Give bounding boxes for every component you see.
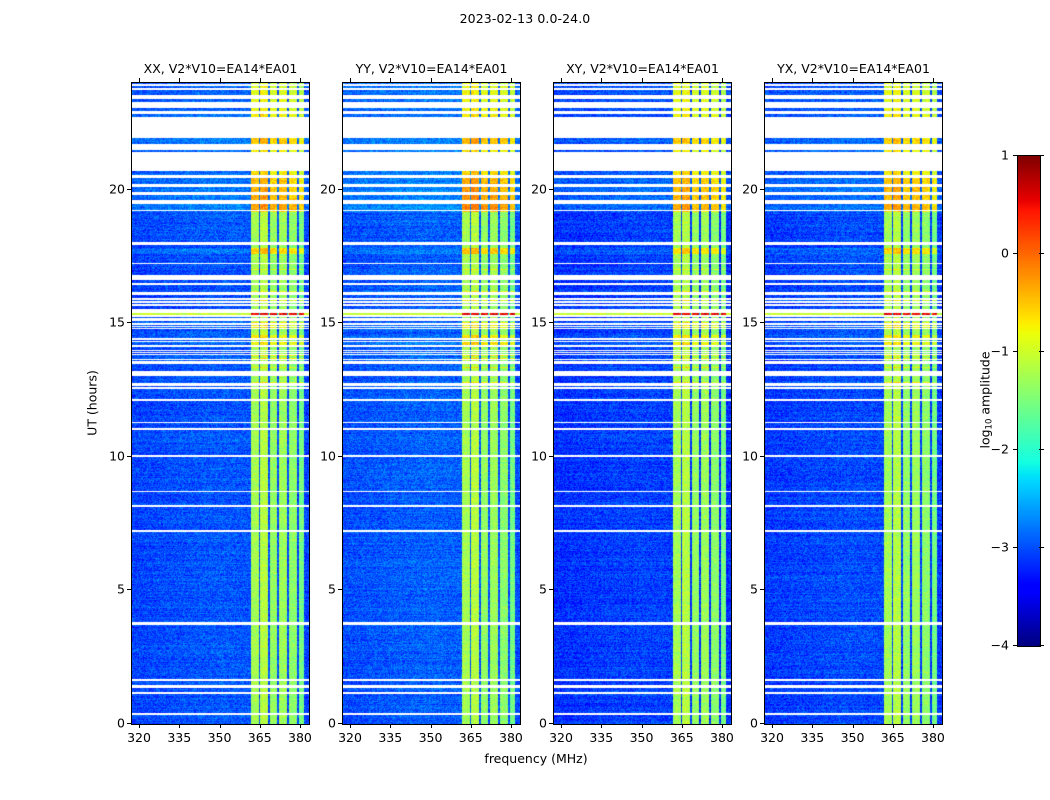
- y-tick-label: 20: [99, 181, 125, 196]
- x-tick-mark-top: [220, 78, 221, 82]
- colorbar-tick-mark-right: [1039, 155, 1044, 156]
- x-axis-label: frequency (MHz): [484, 751, 587, 766]
- x-tick-label: 350: [208, 730, 232, 745]
- x-tick-mark-top: [561, 78, 562, 82]
- y-tick-label: 5: [732, 582, 758, 597]
- x-tick-mark: [139, 724, 140, 728]
- x-tick-mark: [642, 724, 643, 728]
- colorbar[interactable]: [1017, 155, 1041, 647]
- spectrogram-panel-xx[interactable]: XX, V2*V10=EA14*EA01: [131, 82, 310, 725]
- x-tick-mark: [260, 724, 261, 728]
- y-tick-label: 0: [99, 716, 125, 731]
- spectrogram-panel-yx[interactable]: YX, V2*V10=EA14*EA01: [764, 82, 943, 725]
- x-tick-mark: [933, 724, 934, 728]
- x-tick-mark: [682, 724, 683, 728]
- x-tick-label: 350: [419, 730, 443, 745]
- colorbar-label-main: log: [978, 429, 993, 448]
- y-tick-mark: [760, 456, 764, 457]
- colorbar-tick-mark: [1013, 155, 1018, 156]
- colorbar-label-subscript: 10: [985, 419, 995, 430]
- y-tick-label: 0: [310, 716, 336, 731]
- x-tick-mark: [390, 724, 391, 728]
- y-tick-label: 5: [521, 582, 547, 597]
- spectrogram-image-xy: [554, 83, 731, 724]
- x-tick-mark: [561, 724, 562, 728]
- spectrogram-image-yx: [765, 83, 942, 724]
- y-tick-mark: [549, 322, 553, 323]
- spectrogram-panel-xy[interactable]: XY, V2*V10=EA14*EA01: [553, 82, 732, 725]
- y-tick-mark: [127, 456, 131, 457]
- colorbar-tick-mark-right: [1039, 253, 1044, 254]
- x-tick-label: 380: [921, 730, 945, 745]
- x-tick-mark-top: [139, 78, 140, 82]
- y-tick-label: 15: [99, 315, 125, 330]
- x-tick-mark: [601, 724, 602, 728]
- y-tick-mark: [127, 723, 131, 724]
- y-tick-label: 20: [310, 181, 336, 196]
- x-tick-mark: [722, 724, 723, 728]
- y-tick-label: 0: [521, 716, 547, 731]
- colorbar-gradient: [1017, 155, 1041, 647]
- y-tick-mark: [338, 456, 342, 457]
- y-tick-label: 10: [310, 448, 336, 463]
- colorbar-tick-mark-right: [1039, 645, 1044, 646]
- colorbar-tick-mark: [1013, 449, 1018, 450]
- colorbar-tick-mark: [1013, 645, 1018, 646]
- colorbar-tick-label: 1: [975, 148, 1009, 163]
- x-tick-label: 335: [167, 730, 191, 745]
- x-tick-mark-top: [893, 78, 894, 82]
- x-tick-label: 365: [881, 730, 905, 745]
- spectrogram-image-xx: [132, 83, 309, 724]
- colorbar-tick-mark-right: [1039, 351, 1044, 352]
- y-tick-label: 10: [99, 448, 125, 463]
- y-axis-label: UT (hours): [85, 370, 100, 436]
- x-tick-mark: [300, 724, 301, 728]
- x-tick-mark-top: [642, 78, 643, 82]
- colorbar-label-tail: amplitude: [978, 351, 993, 418]
- x-tick-label: 320: [338, 730, 362, 745]
- y-tick-mark: [760, 322, 764, 323]
- y-tick-label: 15: [521, 315, 547, 330]
- x-tick-mark-top: [390, 78, 391, 82]
- x-tick-label: 380: [710, 730, 734, 745]
- y-tick-label: 20: [521, 181, 547, 196]
- x-tick-label: 365: [670, 730, 694, 745]
- y-tick-mark: [549, 723, 553, 724]
- colorbar-tick-mark-right: [1039, 547, 1044, 548]
- y-tick-label: 15: [310, 315, 336, 330]
- x-tick-mark: [179, 724, 180, 728]
- x-tick-mark: [350, 724, 351, 728]
- y-tick-mark: [760, 589, 764, 590]
- spectrogram-image-yy: [343, 83, 520, 724]
- x-tick-mark-top: [471, 78, 472, 82]
- x-tick-mark-top: [853, 78, 854, 82]
- colorbar-tick-mark-right: [1039, 449, 1044, 450]
- y-tick-mark: [338, 189, 342, 190]
- x-tick-mark-top: [682, 78, 683, 82]
- x-tick-label: 365: [459, 730, 483, 745]
- x-tick-label: 320: [127, 730, 151, 745]
- panel-title-yx: YX, V2*V10=EA14*EA01: [777, 61, 930, 76]
- x-tick-mark-top: [179, 78, 180, 82]
- x-tick-mark-top: [431, 78, 432, 82]
- x-tick-mark: [471, 724, 472, 728]
- x-tick-label: 350: [630, 730, 654, 745]
- y-tick-mark: [549, 456, 553, 457]
- y-tick-label: 20: [732, 181, 758, 196]
- y-tick-label: 15: [732, 315, 758, 330]
- figure-title: 2023-02-13 0.0-24.0: [0, 11, 1050, 26]
- x-tick-mark-top: [511, 78, 512, 82]
- x-tick-mark-top: [260, 78, 261, 82]
- panel-title-xx: XX, V2*V10=EA14*EA01: [144, 61, 298, 76]
- x-tick-label: 365: [248, 730, 272, 745]
- x-tick-mark: [772, 724, 773, 728]
- y-tick-label: 10: [521, 448, 547, 463]
- colorbar-tick-label: −4: [975, 638, 1009, 653]
- x-tick-label: 320: [760, 730, 784, 745]
- spectrogram-panel-yy[interactable]: YY, V2*V10=EA14*EA01: [342, 82, 521, 725]
- panel-title-xy: XY, V2*V10=EA14*EA01: [566, 61, 719, 76]
- x-tick-label: 335: [800, 730, 824, 745]
- x-tick-label: 335: [378, 730, 402, 745]
- colorbar-tick-mark: [1013, 351, 1018, 352]
- x-tick-mark-top: [812, 78, 813, 82]
- x-tick-label: 320: [549, 730, 573, 745]
- x-tick-mark-top: [350, 78, 351, 82]
- x-tick-label: 335: [589, 730, 613, 745]
- y-tick-label: 10: [732, 448, 758, 463]
- y-tick-mark: [760, 723, 764, 724]
- x-tick-mark-top: [300, 78, 301, 82]
- x-tick-mark: [812, 724, 813, 728]
- x-tick-mark-top: [772, 78, 773, 82]
- y-tick-mark: [338, 589, 342, 590]
- colorbar-label: log10 amplitude: [978, 351, 993, 448]
- x-tick-mark-top: [722, 78, 723, 82]
- y-tick-mark: [127, 189, 131, 190]
- x-tick-label: 380: [288, 730, 312, 745]
- figure-canvas: 2023-02-13 0.0-24.0 XX, V2*V10=EA14*EA01…: [0, 0, 1050, 800]
- x-tick-label: 380: [499, 730, 523, 745]
- x-tick-mark: [893, 724, 894, 728]
- y-tick-label: 5: [99, 582, 125, 597]
- y-tick-mark: [549, 589, 553, 590]
- colorbar-tick-label: −3: [975, 540, 1009, 555]
- colorbar-tick-mark: [1013, 253, 1018, 254]
- y-tick-mark: [127, 322, 131, 323]
- x-tick-mark-top: [601, 78, 602, 82]
- y-tick-label: 0: [732, 716, 758, 731]
- y-tick-mark: [760, 189, 764, 190]
- colorbar-tick-label: 0: [975, 246, 1009, 261]
- x-tick-mark: [853, 724, 854, 728]
- y-tick-label: 5: [310, 582, 336, 597]
- y-tick-mark: [338, 322, 342, 323]
- x-tick-mark: [220, 724, 221, 728]
- y-tick-mark: [127, 589, 131, 590]
- x-tick-label: 350: [841, 730, 865, 745]
- x-tick-mark: [511, 724, 512, 728]
- colorbar-tick-mark: [1013, 547, 1018, 548]
- y-tick-mark: [549, 189, 553, 190]
- y-tick-mark: [338, 723, 342, 724]
- x-tick-mark: [431, 724, 432, 728]
- panel-title-yy: YY, V2*V10=EA14*EA01: [356, 61, 508, 76]
- x-tick-mark-top: [933, 78, 934, 82]
